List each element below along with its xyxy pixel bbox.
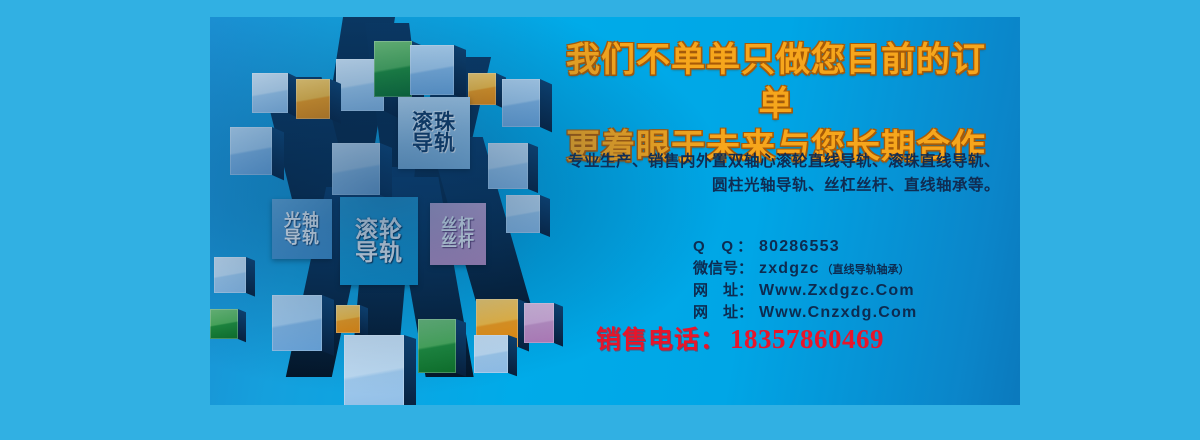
contact-value-qq[interactable]: 80286553 [759, 238, 840, 256]
contact-value-website-1[interactable]: Www.Zxdgzc.Com [759, 282, 915, 300]
cube [344, 335, 404, 405]
cube [230, 127, 272, 175]
cube [488, 143, 528, 189]
tile-label-line1: 光轴 [284, 212, 320, 229]
cube-face [210, 309, 238, 339]
cube-side [322, 295, 334, 356]
promo-banner: 滚珠 导轨 光轴 导轨 滚轮 导轨 丝杠 丝杆 我们不单单只做您目前的订单 更着… [0, 0, 1200, 440]
cube-face [230, 127, 272, 175]
cube [502, 79, 540, 127]
cube [210, 309, 238, 339]
cube-side [360, 305, 368, 336]
sales-phone-number[interactable]: 18357860469 [730, 324, 884, 355]
contact-row-wechat: 微信号： zxdgzc （直线导轨轴承） [550, 257, 1020, 279]
cube-face [252, 73, 288, 113]
cube-face [296, 79, 330, 119]
sales-phone-label: 销售电话： [596, 320, 726, 356]
cube-side [380, 143, 392, 200]
cube-face [374, 41, 412, 97]
contact-row-qq: Q Q ： 80286553 [550, 235, 1020, 257]
tile-label-line2: 导轨 [355, 241, 403, 264]
cube-face [410, 45, 454, 95]
contact-row-website-1: 网 址： Www.Zxdgzc.Com [550, 279, 1020, 301]
tile-label-line1: 丝杠 [441, 218, 475, 234]
cube-face [474, 335, 508, 373]
product-tile-gunzhu-daogui[interactable]: 滚珠 导轨 [398, 97, 470, 169]
product-tile-sigang-sigan[interactable]: 丝杠 丝杆 [430, 203, 486, 265]
cube-side [508, 335, 517, 376]
sales-phone[interactable]: 销售电话： 18357860469 [550, 320, 1020, 356]
cube-face [488, 143, 528, 189]
cube [468, 73, 496, 105]
cube-face [272, 295, 322, 351]
tile-label-line1: 滚轮 [355, 218, 403, 241]
description-text: 专业生产、销售内外置双轴心滚轮直线导轨、滚珠直线导轨、圆柱光轴导轨、丝杠丝杆、直… [560, 150, 1000, 199]
cube [506, 195, 540, 233]
tile-label-line2: 导轨 [284, 229, 320, 246]
cube-side [246, 257, 255, 297]
cube-side [456, 319, 466, 377]
cube [418, 319, 456, 373]
cube-face [344, 335, 404, 405]
cube-face [214, 257, 246, 293]
contact-label: 微信号： [693, 257, 759, 278]
cube [252, 73, 288, 113]
tile-label-line1: 滚珠 [412, 112, 456, 133]
cube [272, 295, 322, 351]
contact-label: 网 址： [693, 279, 759, 300]
cube-face [468, 73, 496, 105]
cube [410, 45, 454, 95]
product-tile-gunlun-daogui[interactable]: 滚轮 导轨 [340, 197, 418, 285]
contact-value-wechat[interactable]: zxdgzc [759, 260, 820, 278]
cube [296, 79, 330, 119]
banner-content: 我们不单单只做您目前的订单 更着眼于未来与您长期合作 专业生产、销售内外置双轴心… [550, 17, 1020, 405]
cube [474, 335, 508, 373]
cube [214, 257, 246, 293]
product-tile-guangzhou-daogui[interactable]: 光轴 导轨 [272, 199, 332, 259]
cube [374, 41, 412, 97]
contact-list: Q Q ： 80286553 微信号： zxdgzc （直线导轨轴承） 网 址：… [550, 235, 1020, 323]
contact-label: Q Q ： [693, 235, 759, 256]
banner-panel: 滚珠 导轨 光轴 导轨 滚轮 导轨 丝杠 丝杆 我们不单单只做您目前的订单 更着… [210, 17, 1020, 405]
cube-side [404, 335, 416, 405]
cube-side [454, 45, 466, 100]
contact-note-wechat: （直线导轨轴承） [822, 261, 910, 277]
contact-label: 网 址： [693, 301, 759, 322]
cube-side [272, 127, 284, 180]
cube-side [540, 195, 550, 237]
cube-face [506, 195, 540, 233]
cube [336, 305, 360, 333]
cube-side [330, 79, 341, 124]
headline-line-1: 我们不单单只做您目前的订单 [566, 41, 986, 123]
cube-face [418, 319, 456, 373]
cube [332, 143, 380, 195]
cube-face [336, 305, 360, 333]
cube-face [502, 79, 540, 127]
tile-label-line2: 丝杆 [441, 234, 475, 250]
3d-cube-cluster-graphic: 滚珠 导轨 光轴 导轨 滚轮 导轨 丝杠 丝杆 [210, 17, 560, 405]
cube-side [238, 309, 246, 342]
tile-label-line2: 导轨 [412, 133, 456, 154]
cube-side [528, 143, 538, 193]
cube-face [332, 143, 380, 195]
